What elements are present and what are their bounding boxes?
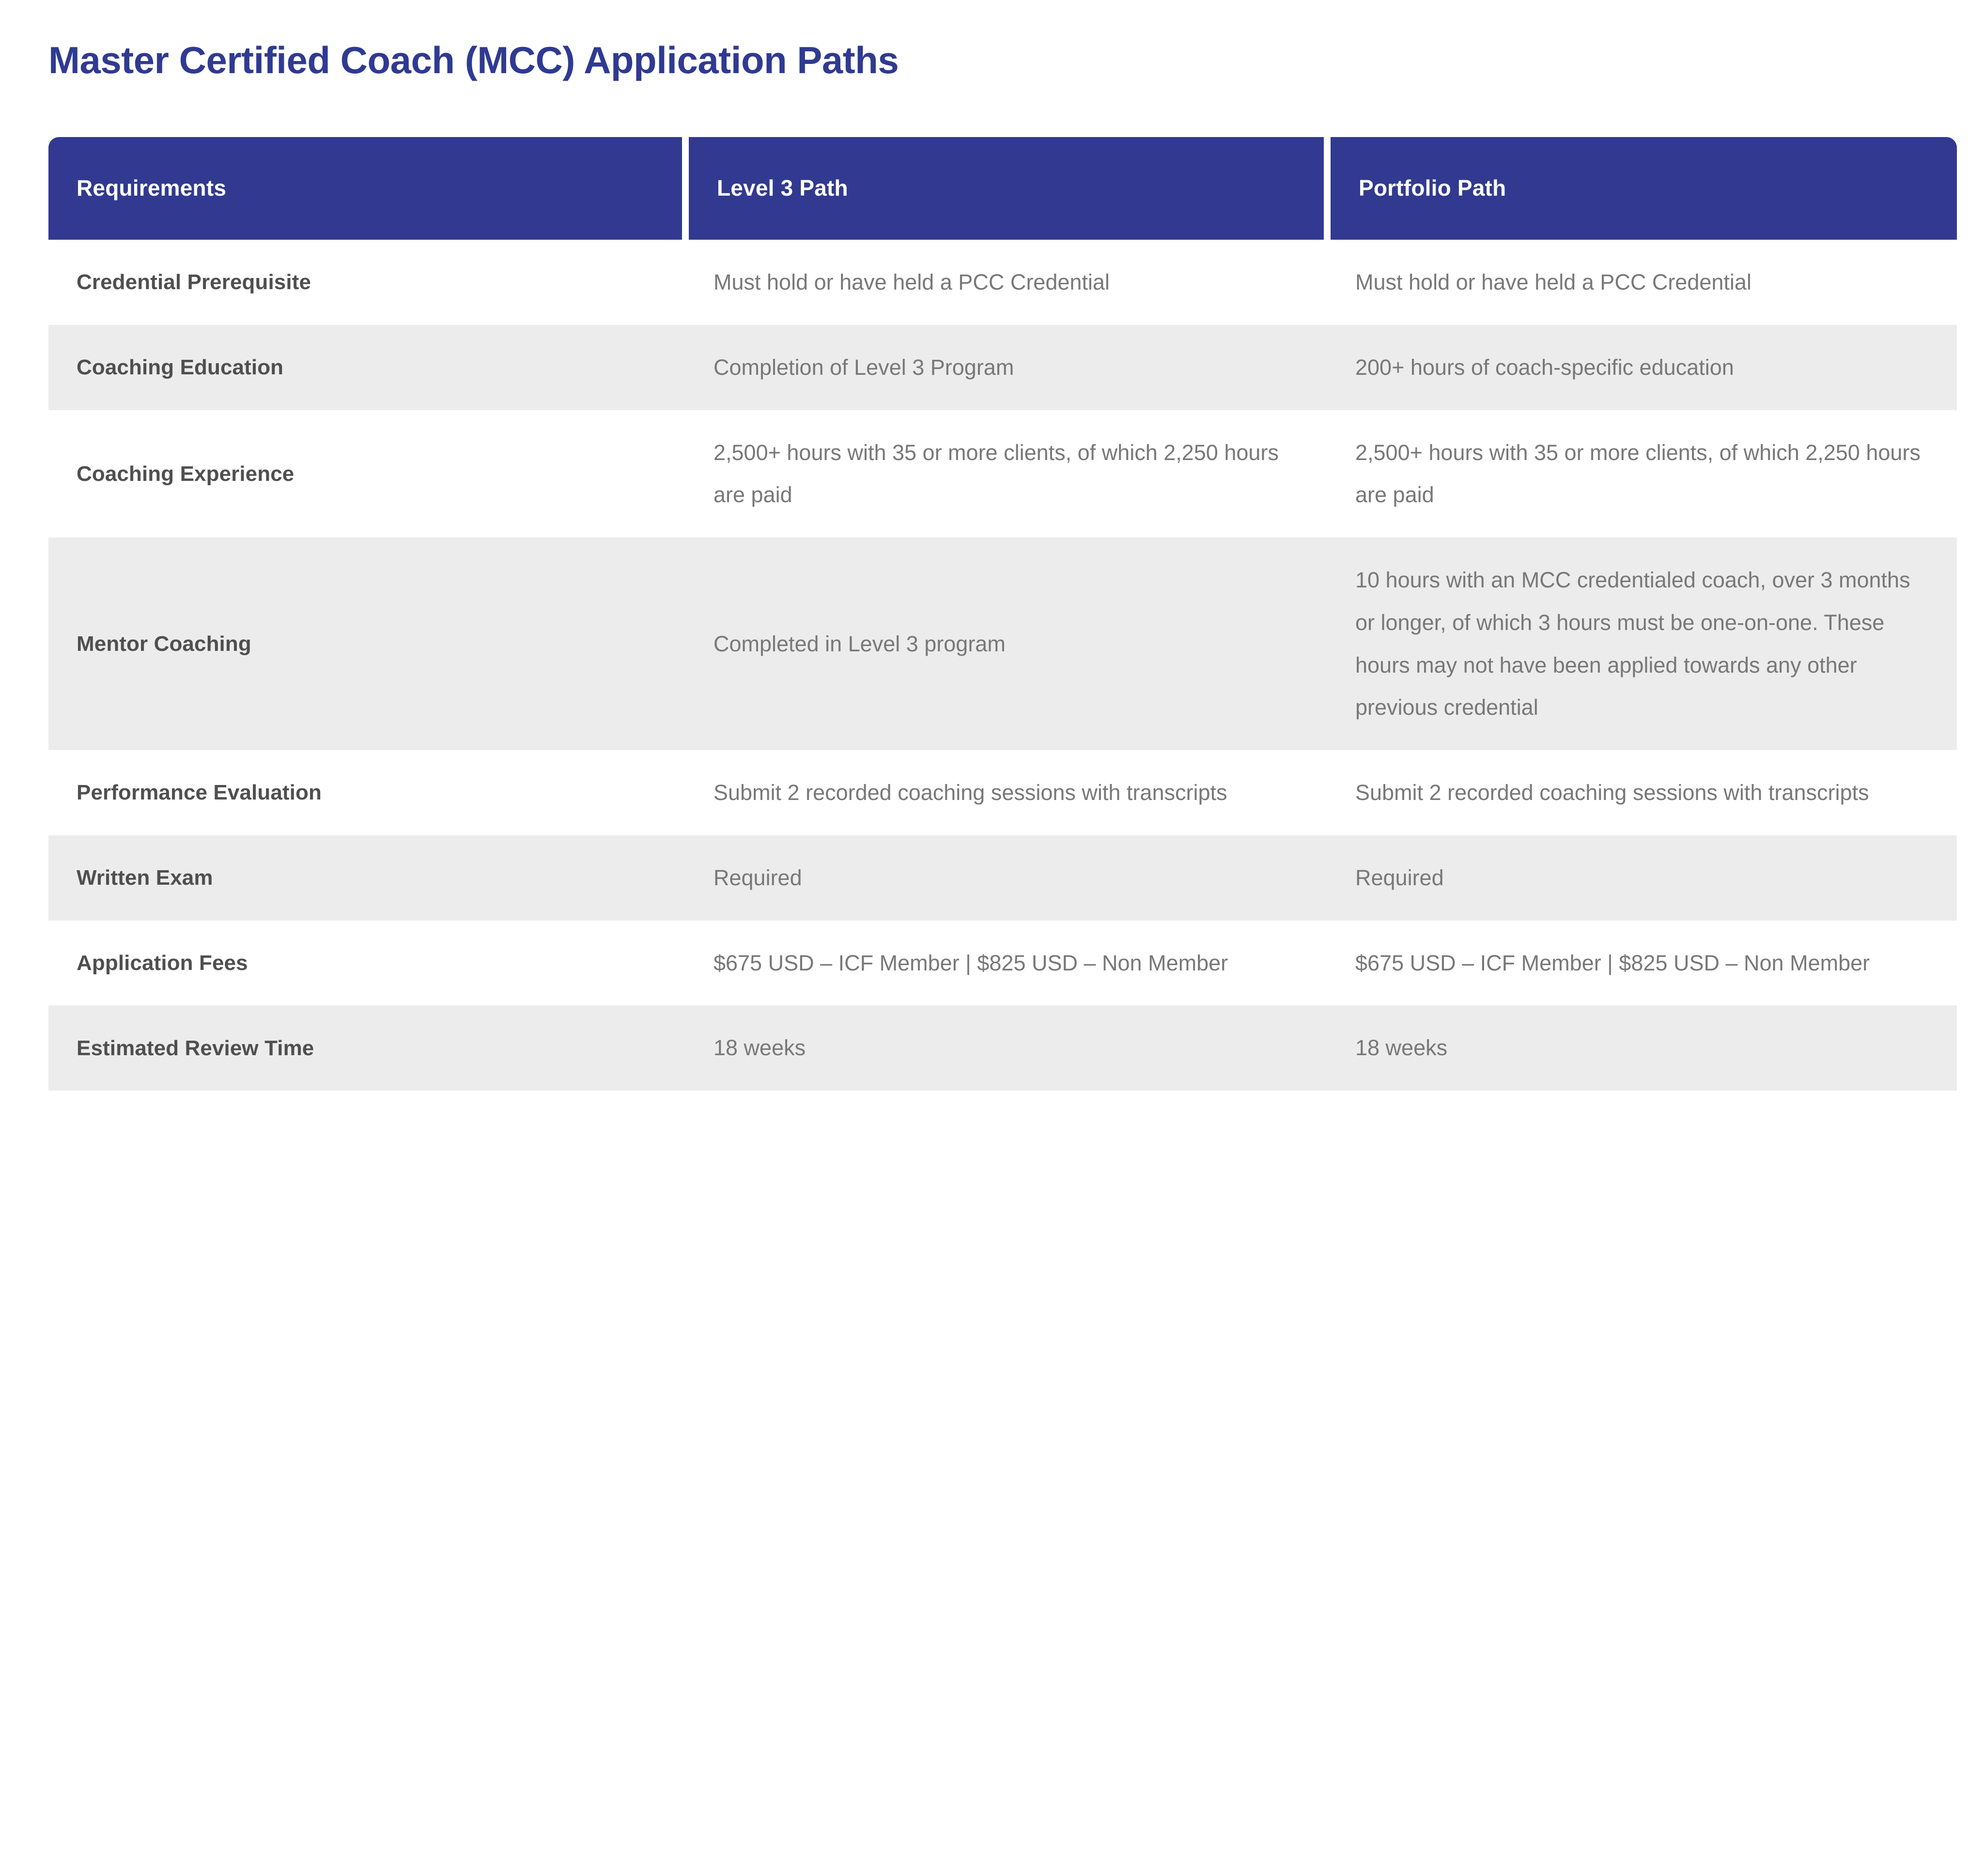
mcc-application-paths-table: Requirements Level 3 Path Portfolio Path…: [48, 137, 1957, 1091]
mcc-application-paths-table-wrapper: Requirements Level 3 Path Portfolio Path…: [48, 137, 1957, 1091]
requirement-label-coaching-experience: Coaching Experience: [48, 410, 685, 538]
portfolio-value-mentor-coaching: 10 hours with an MCC credentialed coach,…: [1327, 538, 1957, 750]
page-root: Master Certified Coach (MCC) Application…: [0, 0, 1984, 1876]
portfolio-value-coaching-education: 200+ hours of coach-specific education: [1327, 325, 1957, 410]
level-3-value-mentor-coaching: Completed in Level 3 program: [685, 538, 1327, 750]
requirement-label-coaching-education: Coaching Education: [48, 325, 685, 410]
level-3-value-coaching-experience: 2,500+ hours with 35 or more clients, of…: [685, 410, 1327, 538]
page-title: Master Certified Coach (MCC) Application…: [48, 38, 899, 83]
level-3-value-performance-evaluation: Submit 2 recorded coaching sessions with…: [685, 750, 1327, 835]
table-header: Requirements Level 3 Path Portfolio Path: [48, 137, 1957, 240]
portfolio-value-application-fees: $675 USD – ICF Member | $825 USD – Non M…: [1327, 921, 1957, 1006]
level-3-value-application-fees: $675 USD – ICF Member | $825 USD – Non M…: [685, 921, 1327, 1006]
table-row: Mentor Coaching Completed in Level 3 pro…: [48, 538, 1957, 750]
table-row: Estimated Review Time 18 weeks 18 weeks: [48, 1005, 1957, 1091]
requirement-label-estimated-review-time: Estimated Review Time: [48, 1005, 685, 1091]
portfolio-value-coaching-experience: 2,500+ hours with 35 or more clients, of…: [1327, 410, 1957, 538]
level-3-value-written-exam: Required: [685, 835, 1327, 921]
table-row: Performance Evaluation Submit 2 recorded…: [48, 750, 1957, 835]
table-row: Application Fees $675 USD – ICF Member |…: [48, 921, 1957, 1006]
requirement-label-credential-prerequisite: Credential Prerequisite: [48, 240, 685, 325]
column-header-portfolio-path: Portfolio Path: [1327, 137, 1957, 240]
portfolio-value-credential-prerequisite: Must hold or have held a PCC Credential: [1327, 240, 1957, 325]
requirement-label-mentor-coaching: Mentor Coaching: [48, 538, 685, 750]
requirement-label-written-exam: Written Exam: [48, 835, 685, 921]
requirement-label-application-fees: Application Fees: [48, 921, 685, 1006]
table-row: Coaching Experience 2,500+ hours with 35…: [48, 410, 1957, 538]
level-3-value-credential-prerequisite: Must hold or have held a PCC Credential: [685, 240, 1327, 325]
portfolio-value-written-exam: Required: [1327, 835, 1957, 921]
level-3-value-estimated-review-time: 18 weeks: [685, 1005, 1327, 1091]
requirement-label-performance-evaluation: Performance Evaluation: [48, 750, 685, 835]
level-3-value-coaching-education: Completion of Level 3 Program: [685, 325, 1327, 410]
table-row: Coaching Education Completion of Level 3…: [48, 325, 1957, 410]
table-header-row: Requirements Level 3 Path Portfolio Path: [48, 137, 1957, 240]
column-header-requirements: Requirements: [48, 137, 685, 240]
portfolio-value-estimated-review-time: 18 weeks: [1327, 1005, 1957, 1091]
portfolio-value-performance-evaluation: Submit 2 recorded coaching sessions with…: [1327, 750, 1957, 835]
table-row: Credential Prerequisite Must hold or hav…: [48, 240, 1957, 325]
table-body: Credential Prerequisite Must hold or hav…: [48, 240, 1957, 1091]
table-row: Written Exam Required Required: [48, 835, 1957, 921]
column-header-level-3-path: Level 3 Path: [685, 137, 1327, 240]
